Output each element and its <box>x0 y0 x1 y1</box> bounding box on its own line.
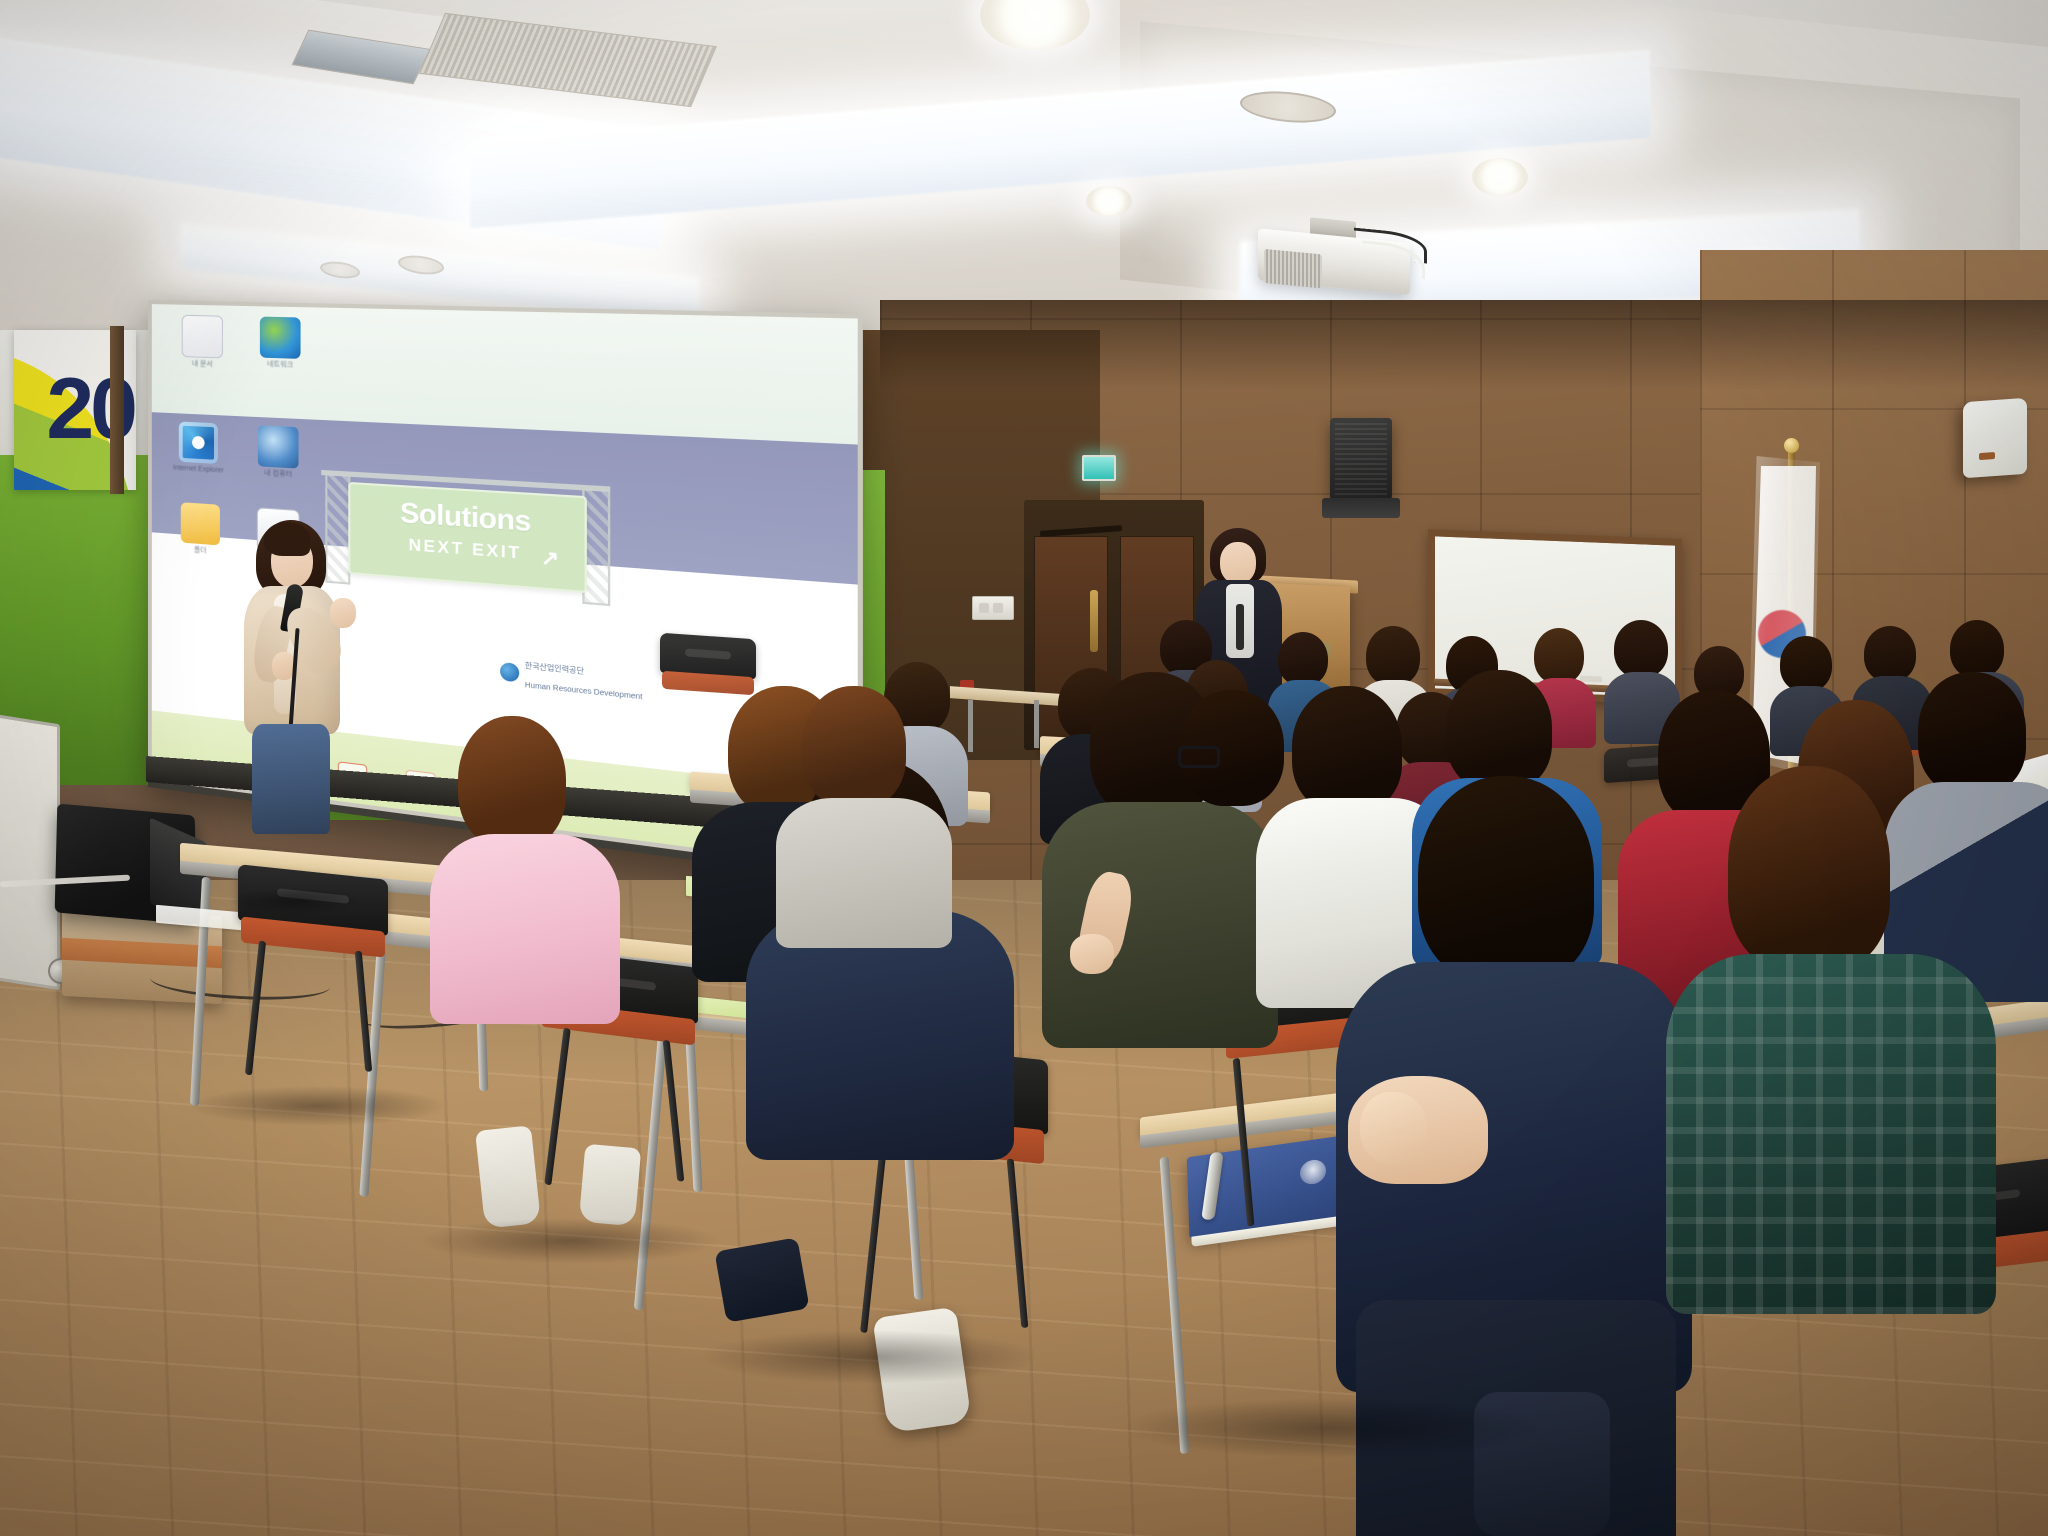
ie-icon <box>179 421 218 464</box>
attendee-shoe <box>475 1125 541 1228</box>
attendee-plaid-shirt <box>1666 954 1996 1314</box>
seminar-room-photo: 20 30 내 문서 네트워크 Internet Explor <box>0 0 2048 1536</box>
attendee-head <box>1864 626 1916 682</box>
logo-text: 한국산업인력공단 <box>525 662 584 675</box>
attendee-hair <box>1918 672 2026 794</box>
highway-sign-graphic: Solutions NEXT EXIT ↗ <box>348 482 582 589</box>
attendee-hand <box>1070 934 1114 974</box>
attendee-head <box>1780 636 1832 692</box>
attendee-head <box>1614 620 1668 678</box>
computer-icon <box>258 425 299 468</box>
attendee-pink-top <box>430 834 620 1024</box>
wall-switch-plate[interactable] <box>972 596 1014 620</box>
mobile-whiteboard-cart <box>0 712 60 991</box>
flag-finial <box>1784 438 1799 453</box>
downlight <box>1472 158 1528 196</box>
exit-sign-icon <box>1082 455 1116 481</box>
presenter-hand-left <box>330 598 356 628</box>
presenter-shadow <box>230 888 360 914</box>
staff-face <box>1220 542 1256 584</box>
chair-leg <box>663 1040 685 1181</box>
attendee-hair <box>1292 686 1402 812</box>
attendee-head <box>1278 632 1328 686</box>
chair-leg <box>355 951 372 1072</box>
furniture-shadow <box>700 1330 1040 1384</box>
attendee-torso <box>776 798 952 948</box>
whiteboard-marker[interactable] <box>1580 676 1602 683</box>
presenter <box>238 520 348 820</box>
desktop-icon-ie[interactable]: Internet Explorer <box>173 421 224 475</box>
side-table-leg <box>968 700 973 752</box>
attendee-hand <box>1360 1092 1426 1164</box>
ceiling-speaker-base <box>1322 498 1400 518</box>
attendee-shoe <box>579 1144 642 1227</box>
attendee-hair <box>458 716 566 848</box>
attendee-hair <box>1418 776 1594 982</box>
attendee-head <box>1950 620 2004 678</box>
folder-icon <box>181 502 220 545</box>
attendee-olive-top <box>1042 802 1278 1048</box>
ceiling-speaker-icon <box>1330 418 1392 500</box>
logo-subtext: Human Resources Development <box>525 682 643 702</box>
presenter-jeans <box>252 724 330 834</box>
wall-speaker-icon <box>1963 398 2027 478</box>
attendee-head <box>1534 628 1584 684</box>
glasses-icon <box>1178 746 1220 768</box>
wall-shadow <box>880 300 2048 390</box>
projector-vent-icon <box>1264 249 1322 289</box>
organization-logo-icon <box>500 661 519 681</box>
attendee-hair <box>1446 670 1552 790</box>
furniture-shadow <box>188 1086 448 1126</box>
users-icon <box>182 315 223 359</box>
door-handle[interactable] <box>1090 590 1098 652</box>
furniture-shadow <box>420 1218 720 1264</box>
downlight <box>1086 186 1132 216</box>
attendee-hair <box>1728 766 1890 970</box>
staff-lanyard <box>1236 604 1244 650</box>
globe-icon <box>260 317 301 359</box>
arrow-up-right-icon: ↗ <box>541 546 559 573</box>
slide-footer-logo: 한국산업인력공단 Human Resources Development <box>493 652 674 707</box>
attendee-bag <box>714 1237 809 1322</box>
presenter-hair-front <box>264 522 310 556</box>
furniture-shadow <box>1120 1398 1540 1458</box>
highway-sign-board: Solutions NEXT EXIT ↗ <box>348 482 587 593</box>
desktop-icon-computer[interactable]: 내 컴퓨터 <box>252 425 305 480</box>
desktop-icon-label: 폴더 <box>175 545 226 557</box>
attendee-hair <box>802 686 906 808</box>
desktop-icon-users[interactable]: 내 문서 <box>177 315 228 370</box>
side-table-leg <box>1034 700 1039 748</box>
desktop-icon-folder[interactable]: 폴더 <box>175 502 226 557</box>
desktop-icon-globe[interactable]: 네트워크 <box>254 316 307 370</box>
banner-frame <box>110 326 124 494</box>
attendee-head <box>1366 626 1420 686</box>
